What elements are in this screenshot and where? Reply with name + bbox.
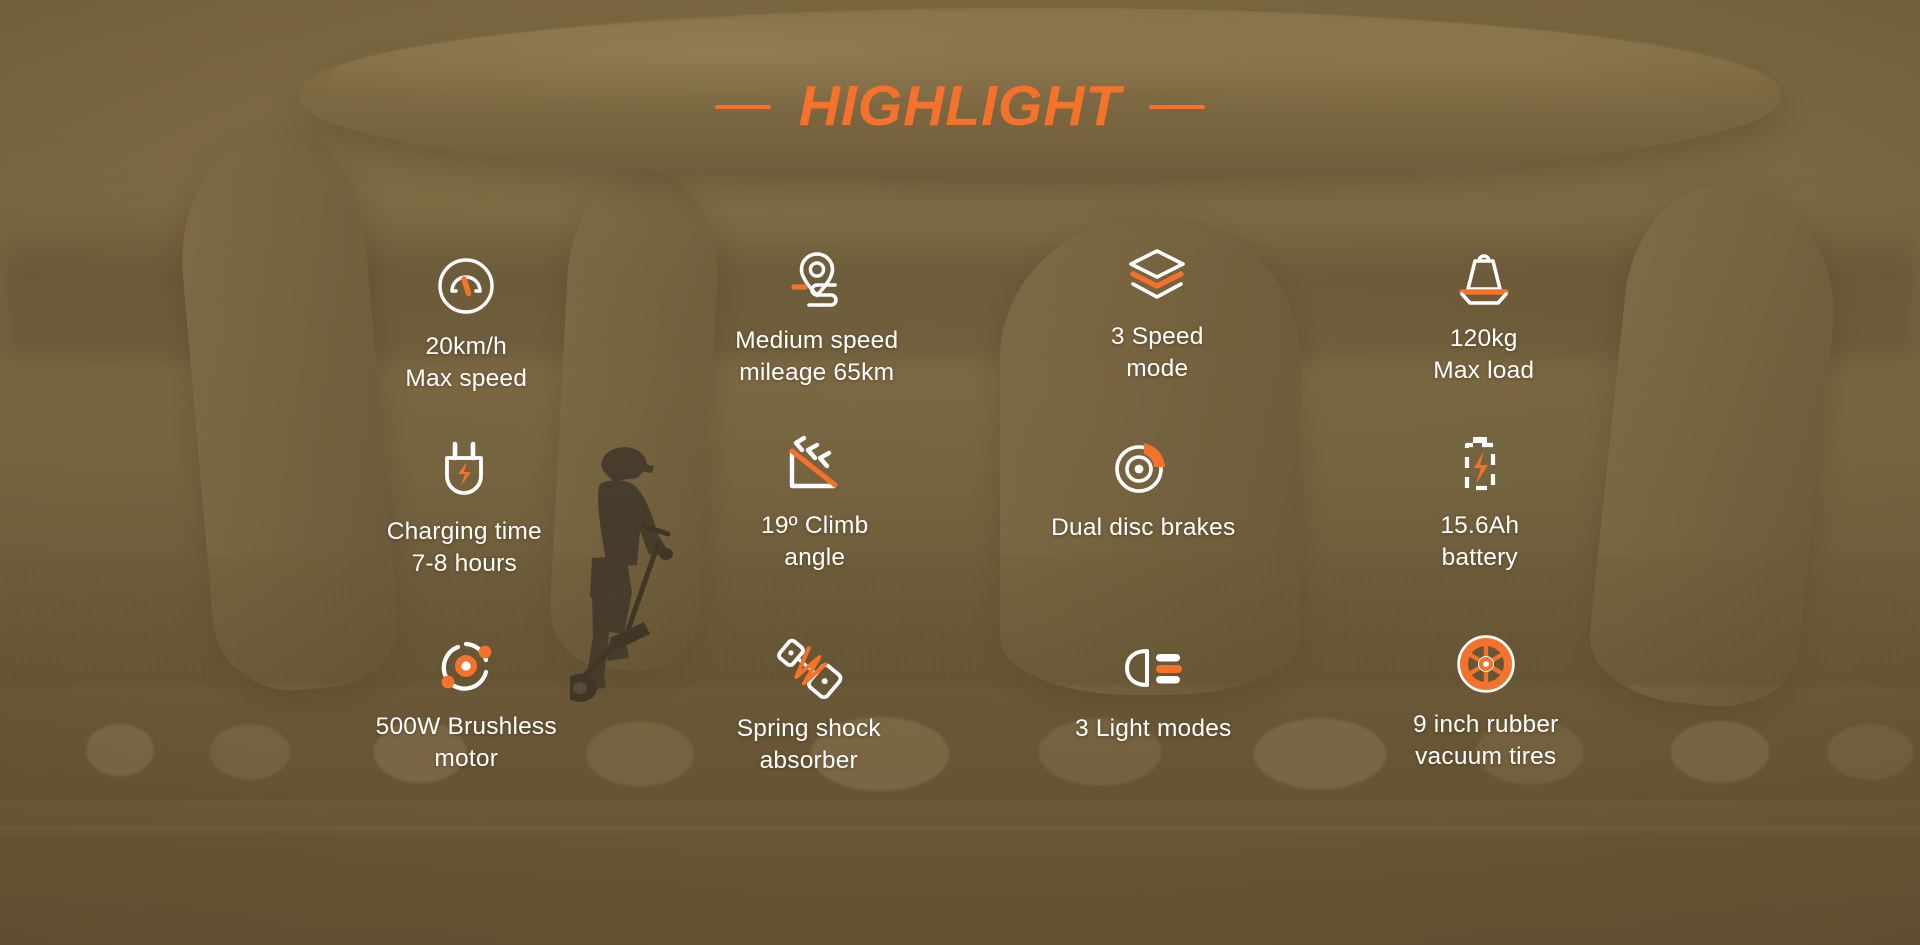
feature-label: 3 Speed mode (1111, 321, 1204, 386)
shock-absorber-icon (773, 637, 845, 699)
feature-label: Charging time 7-8 hours (387, 516, 542, 581)
feature-item-climb-angle: 19º Climb angle (649, 434, 982, 629)
battery-bolt-icon (1453, 434, 1507, 496)
feature-item-shock-absorber: Spring shock absorber (643, 637, 976, 832)
title-rule-right-icon (1149, 105, 1205, 109)
feature-label: 20km/h Max speed (405, 331, 527, 396)
feature-item-speed-mode: 3 Speed mode (991, 245, 1324, 430)
feature-label: 9 inch rubber vacuum tires (1413, 709, 1559, 774)
climb-angle-icon (779, 434, 851, 496)
feature-label: 120kg Max load (1433, 323, 1534, 388)
feature-label: Medium speed mileage 65km (735, 325, 898, 390)
title-rule-left-icon (715, 105, 771, 109)
feature-item-mileage: Medium speed mileage 65km (651, 249, 984, 434)
feature-label: Spring shock absorber (737, 713, 881, 778)
feature-row-2: Charging time 7-8 hours 19º Climb angle (300, 440, 1630, 635)
weight-scale-icon (1451, 247, 1517, 309)
wheel-tire-icon (1454, 633, 1518, 695)
feature-item-battery: 15.6Ah battery (1314, 434, 1647, 629)
speedometer-icon (435, 255, 497, 317)
feature-row-1: 20km/h Max speed Medium speed mileage 65… (300, 255, 1630, 440)
headlight-icon (1117, 637, 1189, 699)
highlight-banner: HIGHLIGHT 20km/h Max speed (0, 0, 1920, 945)
feature-item-charging-time: Charging time 7-8 hours (298, 440, 631, 635)
feature-item-motor: 500W Brushless motor (300, 635, 633, 830)
layers-icon (1124, 245, 1190, 307)
feature-label: 15.6Ah battery (1440, 510, 1519, 575)
feature-label: 3 Light modes (1075, 713, 1232, 745)
disc-brake-icon (1110, 436, 1176, 498)
content-layer: HIGHLIGHT 20km/h Max speed (0, 0, 1920, 945)
charging-plug-icon (433, 440, 495, 502)
feature-item-light-modes: 3 Light modes (987, 637, 1320, 832)
feature-label: Dual disc brakes (1051, 512, 1235, 544)
page-title: HIGHLIGHT (799, 78, 1121, 135)
feature-grid: 20km/h Max speed Medium speed mileage 65… (300, 255, 1630, 830)
feature-item-tires: 9 inch rubber vacuum tires (1320, 633, 1653, 828)
feature-item-max-load: 120kg Max load (1318, 247, 1651, 432)
feature-label: 500W Brushless motor (376, 711, 557, 776)
title-row: HIGHLIGHT (0, 78, 1920, 135)
feature-label: 19º Climb angle (761, 510, 868, 575)
brushless-motor-icon (434, 635, 498, 697)
location-pin-road-icon (781, 249, 853, 311)
feature-item-max-speed: 20km/h Max speed (300, 255, 633, 440)
feature-item-disc-brakes: Dual disc brakes (977, 436, 1310, 631)
feature-row-3: 500W Brushless motor (300, 635, 1630, 830)
